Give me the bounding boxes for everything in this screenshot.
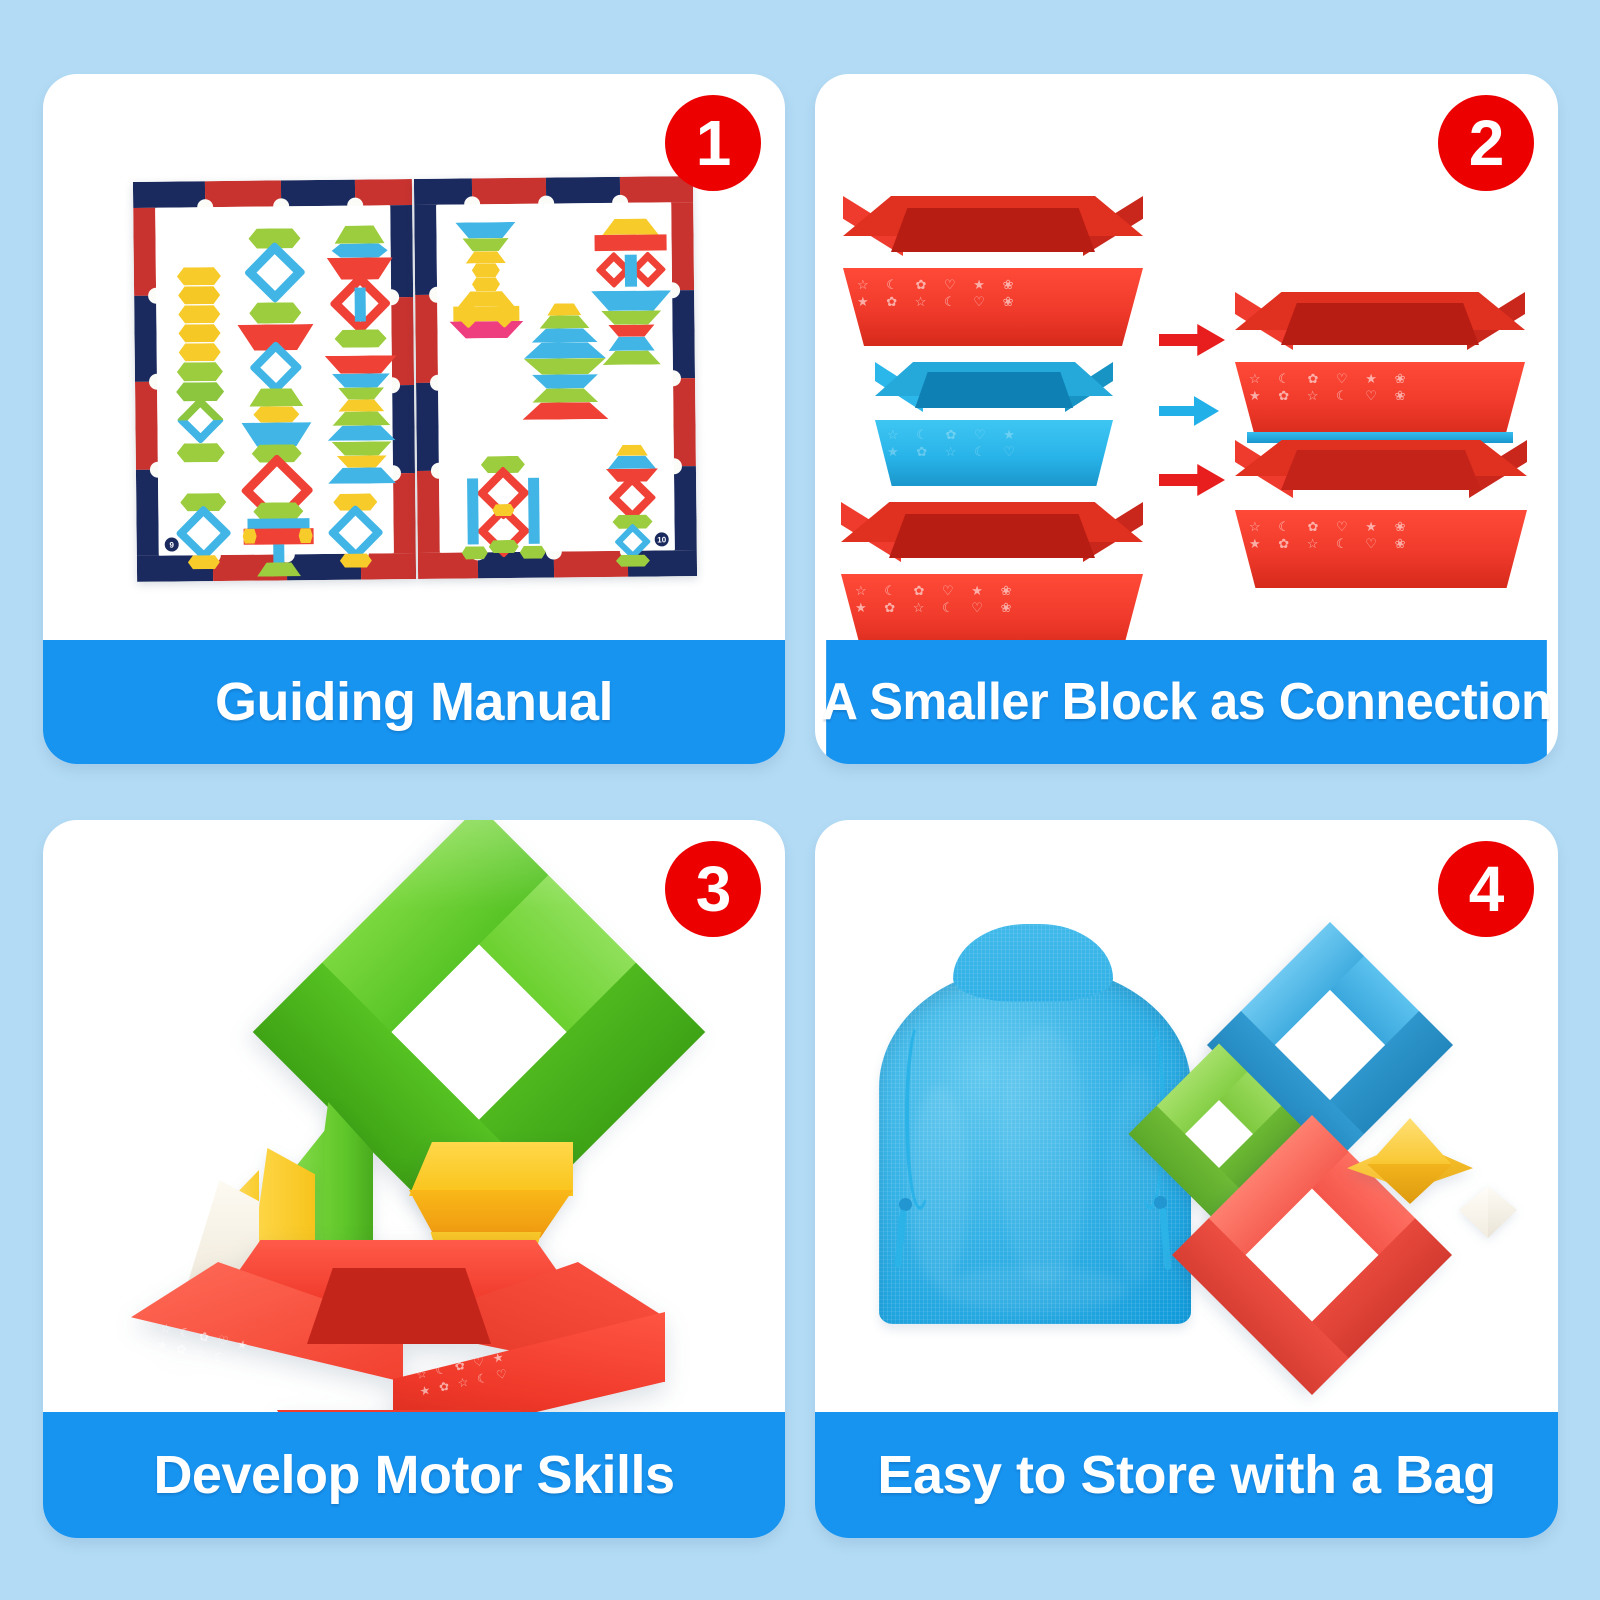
drawstring-knot-right: [1154, 1196, 1167, 1209]
manual-figure-9: [448, 222, 523, 363]
block-red-base-tray: ☆☾✿♡★★✿☆☾♡ ☆☾✿♡★★✿☆☾♡: [131, 1240, 665, 1412]
manual-page-number-right: 10: [655, 532, 669, 546]
piece-pyramid-yellow: [1347, 1118, 1473, 1214]
manual-figure-6: [172, 493, 235, 572]
panel-caption-2: A Smaller Block as Connection: [826, 640, 1547, 764]
panel-1-photo: 1: [43, 74, 785, 640]
manual-page-left: 9: [133, 179, 416, 582]
panel-number-badge-2: 2: [1438, 95, 1534, 191]
panel-2-photo: 2 ☆ ☾ ✿ ♡ ★ ❀★ ✿ ☆ ☾ ♡ ❀ ☆ ☾ ✿ ♡ ★★ ✿ ☆ …: [815, 74, 1558, 640]
manual-figure-1: [174, 267, 226, 468]
drawstring-knot-left: [899, 1198, 912, 1211]
manual-page-right: 10: [414, 176, 697, 579]
panel-number-badge-1: 1: [665, 95, 761, 191]
panel-3-photo: 3: [43, 820, 785, 1412]
panel-caption-4: Easy to Store with a Bag: [815, 1412, 1558, 1538]
panel-card-4[interactable]: 4: [815, 820, 1558, 1538]
manual-figure-12: [451, 456, 556, 569]
manual-figure-13: [599, 444, 666, 569]
manual-figure-4: [323, 355, 400, 486]
panel-card-3[interactable]: 3: [43, 820, 785, 1538]
block-red-tray-bottom: ☆ ☾ ✿ ♡ ★ ❀★ ✿ ☆ ☾ ♡ ❀: [841, 502, 1143, 640]
block-red-tray-top: ☆ ☾ ✿ ♡ ★ ❀★ ✿ ☆ ☾ ♡ ❀: [843, 196, 1143, 346]
panel-number-badge-4: 4: [1438, 841, 1534, 937]
manual-page-canvas-right: 10: [436, 202, 675, 552]
arrow-red-top-icon: [1159, 324, 1225, 356]
manual-figure-8: [324, 493, 387, 572]
block-assembled-bottom: ☆ ☾ ✿ ♡ ★ ❀★ ✿ ☆ ☾ ♡ ❀: [1235, 440, 1527, 588]
panel-grid: 1: [0, 0, 1600, 1600]
panel-number-badge-3: 3: [665, 841, 761, 937]
arrow-red-bottom-icon: [1159, 464, 1225, 496]
manual-page-canvas-left: 9: [155, 205, 394, 555]
panel-caption-1: Guiding Manual: [43, 640, 785, 764]
block-blue-tray: ☆ ☾ ✿ ♡ ★★ ✿ ☆ ☾ ♡: [875, 362, 1113, 486]
panel-card-2[interactable]: 2 ☆ ☾ ✿ ♡ ★ ❀★ ✿ ☆ ☾ ♡ ❀ ☆ ☾ ✿ ♡ ★★ ✿ ☆ …: [815, 74, 1558, 764]
panel-4-photo: 4: [815, 820, 1558, 1412]
manual-figure-7: [236, 502, 321, 579]
piece-pyramid-white: [1459, 1186, 1517, 1238]
panel-card-1[interactable]: 1: [43, 74, 785, 764]
manual-figure-11: [519, 303, 610, 434]
panel-caption-3: Develop Motor Skills: [43, 1412, 785, 1538]
manual-page-number-left: 9: [165, 537, 179, 551]
block-assembled-top: ☆ ☾ ✿ ♡ ★ ❀★ ✿ ☆ ☾ ♡ ❀: [1235, 292, 1525, 438]
manual-figure-3: [323, 225, 397, 376]
manual-figure-2: [235, 228, 316, 479]
guiding-manual-image: 9: [133, 176, 697, 582]
arrow-blue-middle-icon: [1159, 396, 1219, 426]
